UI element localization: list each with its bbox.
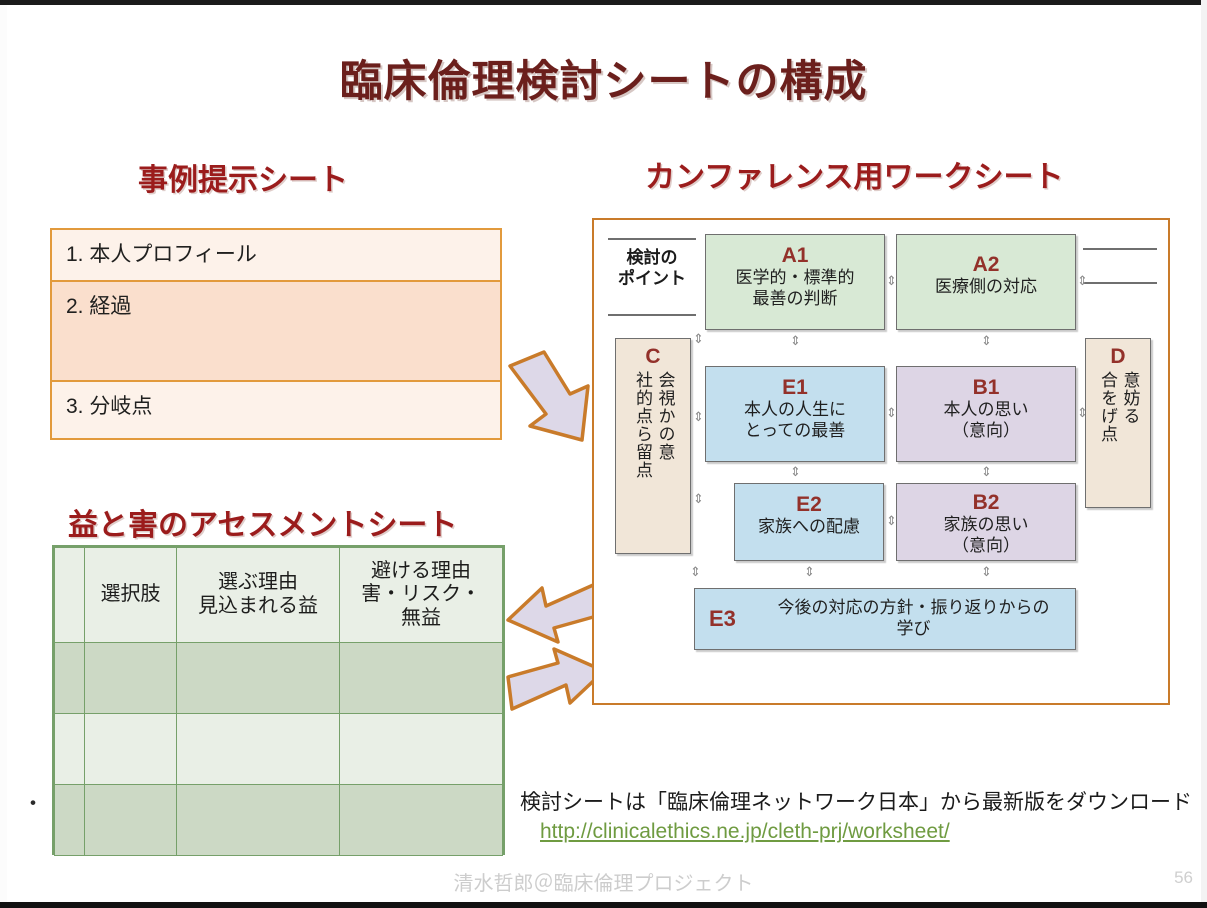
connector-c-e3-icon: ⇕ — [690, 565, 701, 578]
worksheet-box-d-code: D — [1086, 345, 1150, 369]
assessment-table-head: 選択肢 選ぶ理由 見込まれる益 避ける理由 害・リスク・ 無益 — [55, 548, 503, 643]
download-note: 検討シートは「臨床倫理ネットワーク日本」から最新版をダウンロード — [520, 786, 1192, 816]
worksheet-box-a1-code: A1 — [706, 244, 884, 268]
case-presentation-sheet: 1. 本人プロフィール 2. 経過 3. 分岐点 — [50, 228, 502, 440]
case-sheet-heading: 事例提示シート — [138, 155, 348, 199]
slide-left-edge — [0, 5, 7, 902]
assessment-cell[interactable] — [55, 714, 85, 785]
assessment-header-reason-avoid-line1: 避ける理由 — [344, 560, 498, 584]
worksheet-box-e3-caption: 今後の対応の方針・振り返りからの 学び — [762, 598, 1065, 639]
connector-a2-b1-icon: ⇕ — [981, 334, 992, 347]
worksheet-box-d-col-left: 意妨る — [1118, 371, 1140, 425]
connector-a2-d-icon: ⇕ — [1077, 274, 1088, 287]
worksheet-box-a2[interactable]: A2 医療側の対応 — [896, 234, 1076, 330]
assessment-header-reason-choose-line2: 見込まれる益 — [181, 595, 335, 619]
worksheet-box-e1-caption-line1: 本人の人生に — [706, 400, 884, 421]
assessment-header-reason-avoid-line3: 無益 — [344, 607, 498, 631]
connector-b1-d-icon: ⇕ — [1077, 406, 1088, 419]
assessment-cell[interactable] — [55, 785, 85, 856]
page-number: 56 — [1174, 868, 1193, 888]
worksheet-box-a2-code: A2 — [897, 253, 1075, 277]
case-sheet-row-1[interactable]: 1. 本人プロフィール — [52, 230, 500, 282]
connector-e1-e2-icon: ⇕ — [790, 465, 801, 478]
case-sheet-row-3[interactable]: 3. 分岐点 — [52, 382, 500, 438]
worksheet-box-c-col-right: 社的点ら留点 — [631, 371, 653, 479]
connector-a1-e1-icon: ⇕ — [790, 334, 801, 347]
worksheet-box-d[interactable]: D 合をげ点 意妨る — [1085, 338, 1151, 508]
assessment-table-body — [55, 643, 503, 856]
case-sheet-row-2-label: 2. 経過 — [66, 295, 131, 318]
worksheet-box-e3-code: E3 — [709, 606, 736, 631]
connector-b1-b2-icon: ⇕ — [981, 465, 992, 478]
assessment-cell[interactable] — [340, 785, 503, 856]
worksheet-box-c[interactable]: C 社的点ら留点 会視かの意 — [615, 338, 691, 554]
assessment-cell[interactable] — [85, 643, 177, 714]
connector-c-e1-icon: ⇕ — [693, 410, 704, 423]
worksheet-box-b1[interactable]: B1 本人の思い （意向） — [896, 366, 1076, 462]
slide-canvas: 臨床倫理検討シートの構成 事例提示シート 1. 本人プロフィール 2. 経過 3… — [0, 0, 1207, 908]
worksheet-box-e1-caption-line2: とっての最善 — [706, 421, 884, 442]
assessment-header-blank — [55, 548, 85, 643]
connector-e1-b1-icon: ⇕ — [886, 406, 897, 419]
worksheet-box-b2[interactable]: B2 家族の思い （意向） — [896, 483, 1076, 561]
worksheet-box-b2-caption-line1: 家族の思い — [897, 515, 1075, 536]
assessment-cell[interactable] — [85, 714, 177, 785]
worksheet-heading: カンファレンス用ワークシート — [645, 152, 1064, 196]
assessment-header-reason-avoid: 避ける理由 害・リスク・ 無益 — [340, 548, 503, 643]
assessment-sheet-heading: 益と害のアセスメントシート — [68, 500, 457, 544]
worksheet-box-e1[interactable]: E1 本人の人生に とっての最善 — [705, 366, 885, 462]
assessment-cell[interactable] — [177, 785, 340, 856]
worksheet-box-b1-code: B1 — [897, 376, 1075, 400]
assessment-header-reason-avoid-line2: 害・リスク・ — [344, 583, 498, 607]
worksheet-box-b1-caption-line2: （意向） — [897, 421, 1075, 442]
slide-bottom-edge — [0, 902, 1207, 908]
assessment-header-row: 選択肢 選ぶ理由 見込まれる益 避ける理由 害・リスク・ 無益 — [55, 548, 503, 643]
worksheet-box-b1-caption-line1: 本人の思い — [897, 400, 1075, 421]
case-sheet-row-1-label: 1. 本人プロフィール — [66, 243, 257, 266]
assessment-cell[interactable] — [55, 643, 85, 714]
worksheet-box-e2-caption-line1: 家族への配慮 — [735, 517, 883, 538]
table-row[interactable] — [55, 643, 503, 714]
stray-bullet-mark: ・ — [22, 786, 44, 818]
worksheet-box-e2[interactable]: E2 家族への配慮 — [734, 483, 884, 561]
assessment-header-options: 選択肢 — [85, 548, 177, 643]
connector-c-a1-icon: ⇕ — [693, 332, 704, 345]
assessment-cell[interactable] — [340, 643, 503, 714]
worksheet-box-d-col-right: 合をげ点 — [1096, 371, 1118, 443]
worksheet-box-b2-caption-line2: （意向） — [897, 536, 1075, 557]
connector-c-e2-icon: ⇕ — [693, 492, 704, 505]
connector-line-mid — [1083, 282, 1157, 284]
examination-points-line1: 検討の — [608, 247, 696, 268]
worksheet-box-e1-code: E1 — [706, 376, 884, 400]
assessment-cell[interactable] — [340, 714, 503, 785]
connector-a1-a2-icon: ⇕ — [886, 274, 897, 287]
connector-b2-e3-icon: ⇕ — [981, 565, 992, 578]
case-sheet-row-3-label: 3. 分岐点 — [66, 395, 152, 418]
assessment-sheet-table: 選択肢 選ぶ理由 見込まれる益 避ける理由 害・リスク・ 無益 — [52, 545, 505, 855]
assessment-table: 選択肢 選ぶ理由 見込まれる益 避ける理由 害・リスク・ 無益 — [54, 547, 503, 856]
connector-line-top — [1083, 248, 1157, 250]
worksheet-box-a2-caption-line1: 医療側の対応 — [897, 277, 1075, 298]
page-title: 臨床倫理検討シートの構成 — [0, 47, 1207, 109]
connector-e2-e3-icon: ⇕ — [804, 565, 815, 578]
worksheet-box-a1-caption-line2: 最善の判断 — [706, 289, 884, 310]
worksheet-box-d-vertical-text: 合をげ点 意妨る — [1086, 371, 1150, 443]
table-row[interactable] — [55, 714, 503, 785]
assessment-header-reason-choose: 選ぶ理由 見込まれる益 — [177, 548, 340, 643]
case-sheet-row-2[interactable]: 2. 経過 — [52, 282, 500, 382]
worksheet-box-c-code: C — [616, 345, 690, 369]
worksheet-box-a1-caption-line1: 医学的・標準的 — [706, 268, 884, 289]
worksheet-box-c-col-left: 会視かの意 — [653, 371, 675, 461]
worksheet-box-a1[interactable]: A1 医学的・標準的 最善の判断 — [705, 234, 885, 330]
worksheet-box-e2-code: E2 — [735, 493, 883, 517]
connector-e2-b2-icon: ⇕ — [886, 514, 897, 527]
slide-right-edge — [1201, 0, 1207, 908]
worksheet-box-c-vertical-text: 社的点ら留点 会視かの意 — [616, 371, 690, 479]
worksheet-box-e3-caption-line2: 学び — [896, 619, 930, 638]
examination-points-line2: ポイント — [608, 268, 696, 289]
table-row[interactable] — [55, 785, 503, 856]
worksheet-box-e3-caption-line1: 今後の対応の方針・振り返りからの — [777, 598, 1049, 617]
worksheet-box-e3[interactable]: E3 今後の対応の方針・振り返りからの 学び — [694, 588, 1076, 650]
slide-top-edge — [0, 0, 1207, 5]
worksheet-box-b2-code: B2 — [897, 491, 1075, 515]
worksheet-download-link[interactable]: http://clinicalethics.ne.jp/cleth-prj/wo… — [540, 820, 950, 844]
assessment-cell[interactable] — [85, 785, 177, 856]
footer-credit: 清水哲郎＠臨床倫理プロジェクト — [0, 867, 1207, 896]
conference-worksheet: 検討の ポイント A1 医学的・標準的 最善の判断 A2 医療側の対応 E1 本… — [592, 218, 1170, 705]
assessment-header-reason-choose-line1: 選ぶ理由 — [181, 571, 335, 595]
assessment-cell[interactable] — [177, 714, 340, 785]
assessment-cell[interactable] — [177, 643, 340, 714]
examination-points-label: 検討の ポイント — [608, 238, 696, 316]
